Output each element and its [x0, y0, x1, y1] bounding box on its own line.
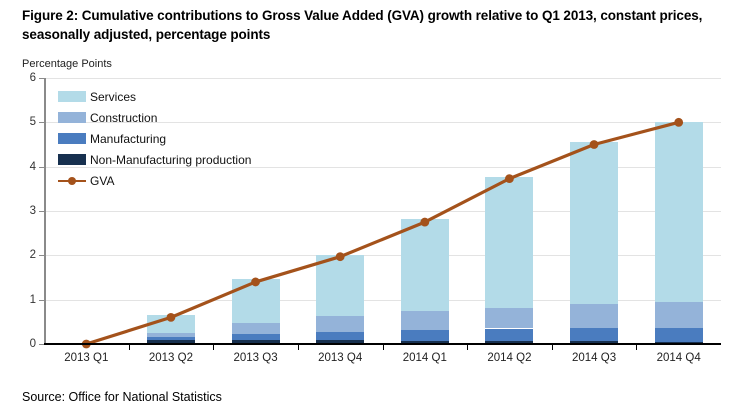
bar-group[interactable] [570, 78, 618, 344]
bar-segment-services[interactable] [232, 279, 280, 323]
legend-item[interactable]: Construction [58, 107, 251, 128]
y-axis-tick-label: 1 [14, 294, 36, 306]
y-axis-tick-label: 3 [14, 205, 36, 217]
bar-segment-services[interactable] [570, 142, 618, 303]
gridline [44, 211, 721, 212]
legend-item-label: Construction [90, 111, 157, 125]
y-axis-line [44, 78, 46, 344]
bar-segment-construction[interactable] [401, 311, 449, 330]
y-axis-tick-mark [39, 255, 44, 256]
x-axis-tick-mark [383, 345, 384, 350]
x-axis-tick-mark [213, 345, 214, 350]
y-axis-tick-label: 2 [14, 249, 36, 261]
legend-swatch-services [58, 91, 86, 102]
legend-item-label: Services [90, 90, 136, 104]
legend-item-label: GVA [90, 174, 114, 188]
bar-segment-services[interactable] [147, 315, 195, 334]
x-axis-tick-label: 2013 Q2 [149, 352, 193, 364]
bar-segment-manufacturing[interactable] [401, 330, 449, 341]
bar-segment-services[interactable] [485, 177, 533, 308]
bar-group[interactable] [485, 78, 533, 344]
bar-group[interactable] [655, 78, 703, 344]
bar-segment-manufacturing[interactable] [147, 337, 195, 340]
bar-segment-manufacturing[interactable] [655, 328, 703, 342]
y-axis-tick-mark [39, 300, 44, 301]
x-axis-tick-mark [636, 345, 637, 350]
bar-segment-manufacturing[interactable] [316, 332, 364, 340]
bar-segment-services[interactable] [316, 255, 364, 315]
bar-group[interactable] [401, 78, 449, 344]
bar-segment-services[interactable] [401, 219, 449, 311]
legend-item[interactable]: Non-Manufacturing production [58, 149, 251, 170]
bar-group[interactable] [316, 78, 364, 344]
legend-item-label: Non-Manufacturing production [90, 153, 251, 167]
gridline [44, 78, 721, 79]
x-axis-tick-label: 2014 Q3 [572, 352, 616, 364]
y-axis-tick-label: 6 [14, 72, 36, 84]
chart-legend: ServicesConstructionManufacturingNon-Man… [58, 86, 251, 191]
x-axis-tick-label: 2013 Q1 [64, 352, 108, 364]
y-axis-tick-label: 4 [14, 161, 36, 173]
legend-marker-icon [68, 177, 76, 185]
bar-segment-construction[interactable] [655, 302, 703, 328]
bar-segment-manufacturing[interactable] [570, 328, 618, 342]
gridline [44, 255, 721, 256]
x-axis-tick-mark [552, 345, 553, 350]
bar-segment-manufacturing[interactable] [485, 329, 533, 341]
source-note: Source: Office for National Statistics [22, 390, 222, 404]
legend-item[interactable]: GVA [58, 170, 251, 191]
bar-segment-construction[interactable] [316, 316, 364, 332]
gva-contributions-chart: 0123456 2013 Q12013 Q22013 Q32013 Q42014… [0, 0, 730, 417]
y-axis-tick-mark [39, 122, 44, 123]
x-axis-tick-mark [298, 345, 299, 350]
bar-segment-construction[interactable] [485, 308, 533, 328]
legend-swatch-manufacturing [58, 133, 86, 144]
y-axis-tick-mark [39, 344, 44, 345]
bar-segment-manufacturing[interactable] [232, 334, 280, 340]
legend-marker-gva [58, 175, 86, 186]
bar-segment-construction[interactable] [147, 333, 195, 337]
legend-swatch-construction [58, 112, 86, 123]
legend-item[interactable]: Services [58, 86, 251, 107]
x-axis-tick-label: 2013 Q3 [234, 352, 278, 364]
x-axis-tick-label: 2014 Q4 [657, 352, 701, 364]
gridline [44, 300, 721, 301]
legend-item[interactable]: Manufacturing [58, 128, 251, 149]
bar-segment-services[interactable] [655, 122, 703, 302]
bar-segment-construction[interactable] [232, 323, 280, 335]
legend-swatch-non-manufacturing-production [58, 154, 86, 165]
y-axis-tick-mark [39, 78, 44, 79]
x-axis-tick-mark [467, 345, 468, 350]
bar-segment-construction[interactable] [570, 304, 618, 328]
y-axis-tick-label: 5 [14, 116, 36, 128]
x-axis-tick-label: 2013 Q4 [318, 352, 362, 364]
y-axis-tick-mark [39, 211, 44, 212]
y-axis-tick-label: 0 [14, 338, 36, 350]
x-axis-tick-label: 2014 Q1 [403, 352, 447, 364]
legend-item-label: Manufacturing [90, 132, 166, 146]
x-axis-tick-label: 2014 Q2 [487, 352, 531, 364]
x-axis-tick-mark [129, 345, 130, 350]
y-axis-tick-mark [39, 167, 44, 168]
